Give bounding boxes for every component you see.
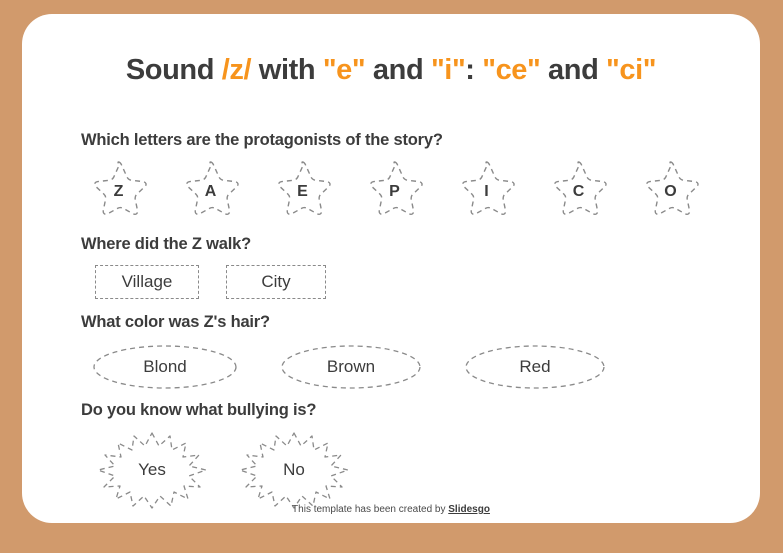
option-letter-z[interactable]: Z [87,158,150,220]
title-accent-1: /z/ [222,54,251,86]
title-text-1: Sound [126,54,222,86]
option-label: E [297,183,308,201]
title-text-5: and [540,54,606,86]
option-label: C [573,183,585,201]
question-1-prompt: Which letters are the protagonists of th… [81,131,443,150]
option-village[interactable]: Village [95,265,199,299]
question-1-options: Z A E P [87,158,702,220]
title-text-4: : [465,54,482,86]
option-letter-i[interactable]: I [455,158,518,220]
option-label: Z [114,183,124,201]
question-3-options: Blond Brown Red [92,344,606,390]
option-letter-c[interactable]: C [547,158,610,220]
option-no[interactable]: No [232,430,356,510]
footer-text: This template has been created by [292,504,448,515]
option-letter-p[interactable]: P [363,158,426,220]
option-label: O [664,183,676,201]
title-text-2: with [251,54,323,86]
option-city[interactable]: City [226,265,326,299]
question-4-options: Yes No [90,430,356,510]
option-label: Red [519,357,550,377]
title-text-3: and [365,54,431,86]
option-label: P [389,183,400,201]
question-3-prompt: What color was Z's hair? [81,313,270,332]
option-label: Brown [327,357,375,377]
question-4-prompt: Do you know what bullying is? [81,401,316,420]
title-accent-2: "e" [323,54,365,86]
option-label: Blond [143,357,186,377]
slidesgo-link[interactable]: Slidesgo [448,504,490,515]
title-accent-3: "i" [431,54,465,86]
option-label: I [484,183,488,201]
worksheet-card: Sound /z/ with "e" and "i": "ce" and "ci… [22,14,760,523]
option-yes[interactable]: Yes [90,430,214,510]
option-red[interactable]: Red [464,344,606,390]
page-title: Sound /z/ with "e" and "i": "ce" and "ci… [22,54,760,87]
worksheet-page: Sound /z/ with "e" and "i": "ce" and "ci… [0,0,783,553]
title-accent-5: "ci" [606,54,656,86]
question-2-options: Village City [95,265,326,299]
option-label: Yes [138,460,166,480]
option-blond[interactable]: Blond [92,344,238,390]
option-label: No [283,460,305,480]
question-2-prompt: Where did the Z walk? [81,235,251,254]
option-brown[interactable]: Brown [280,344,422,390]
option-label: A [205,183,217,201]
footer-credit: This template has been created by Slides… [22,504,760,515]
option-letter-e[interactable]: E [271,158,334,220]
title-accent-4: "ce" [482,54,540,86]
option-letter-o[interactable]: O [639,158,702,220]
option-letter-a[interactable]: A [179,158,242,220]
